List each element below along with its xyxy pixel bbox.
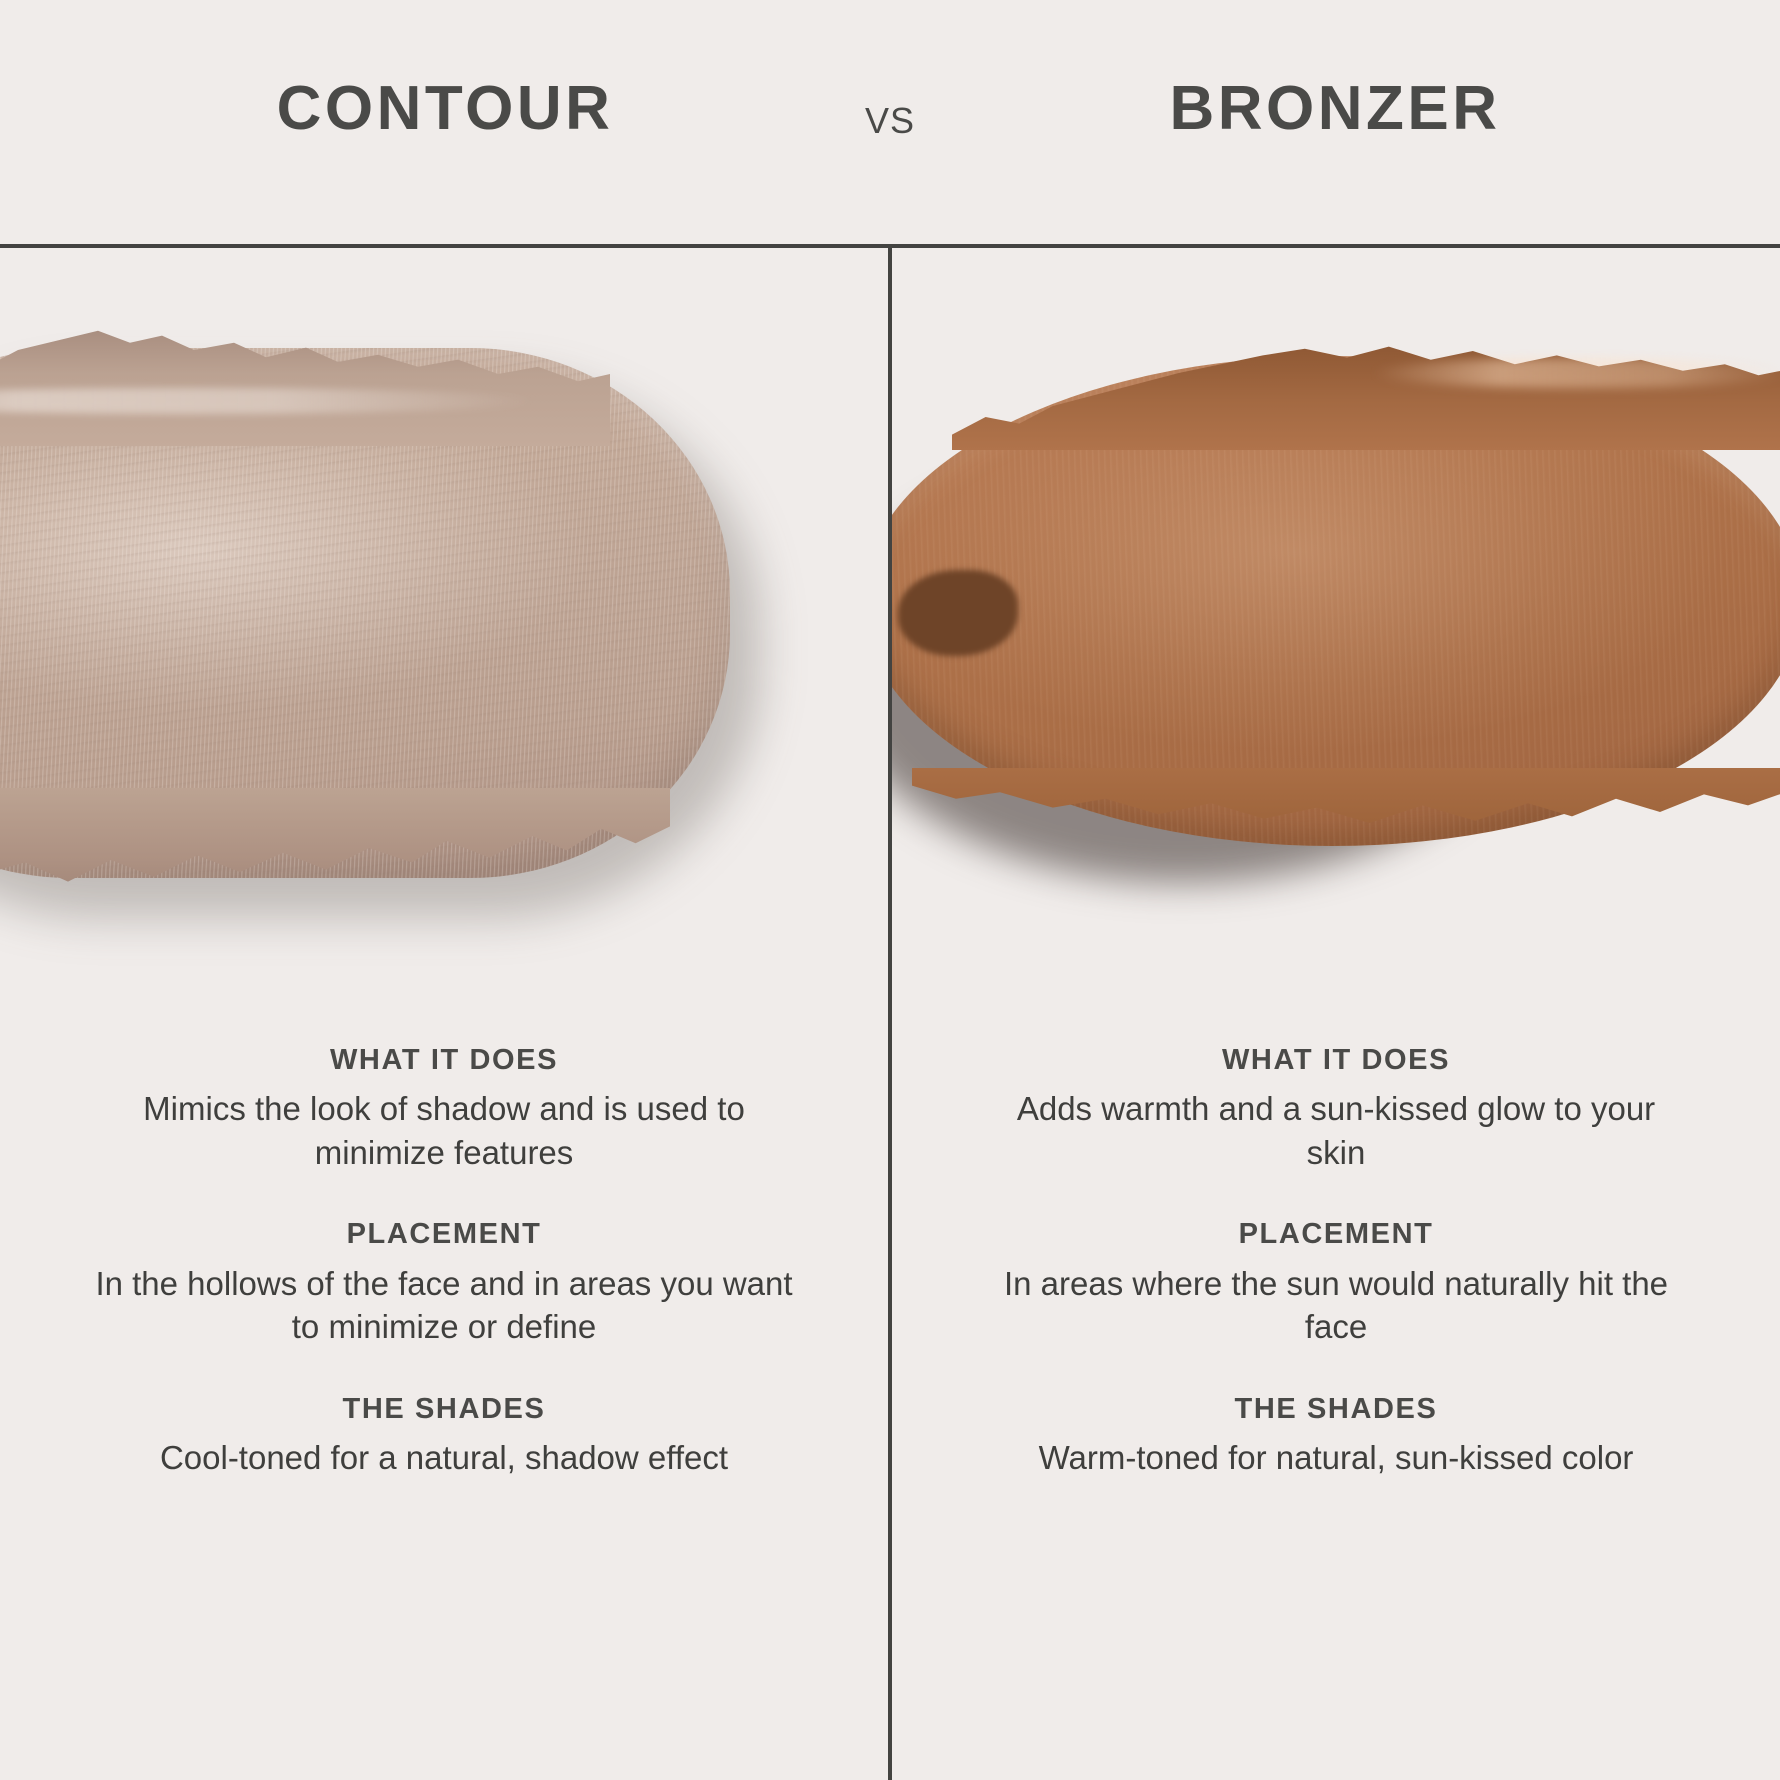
- info-body: In areas where the sun would naturally h…: [892, 1262, 1780, 1349]
- info-heading: PLACEMENT: [0, 1218, 888, 1251]
- info-block-contour: WHAT IT DOES Mimics the look of shadow a…: [0, 1044, 888, 1480]
- info-section-the-shades: THE SHADES Cool-toned for a natural, sha…: [0, 1393, 888, 1480]
- column-bronzer: WHAT IT DOES Adds warmth and a sun-kisse…: [892, 248, 1780, 1780]
- bronzer-swatch-notch: [898, 570, 1018, 656]
- info-heading: THE SHADES: [0, 1393, 888, 1426]
- info-body: Cool-toned for a natural, shadow effect: [0, 1436, 888, 1480]
- swatch-area-bronzer: [892, 248, 1780, 988]
- page-title-bronzer: BRONZER: [890, 78, 1780, 140]
- info-body: Warm-toned for natural, sun-kissed color: [892, 1436, 1780, 1480]
- contour-swatch-top-ridge: [0, 326, 610, 446]
- info-block-bronzer: WHAT IT DOES Adds warmth and a sun-kisse…: [892, 1044, 1780, 1480]
- info-heading: PLACEMENT: [892, 1218, 1780, 1251]
- info-heading: WHAT IT DOES: [0, 1044, 888, 1077]
- info-section-what-it-does: WHAT IT DOES Adds warmth and a sun-kisse…: [892, 1044, 1780, 1174]
- info-section-placement: PLACEMENT In the hollows of the face and…: [0, 1218, 888, 1348]
- column-contour: WHAT IT DOES Mimics the look of shadow a…: [0, 248, 888, 1780]
- info-heading: THE SHADES: [892, 1393, 1780, 1426]
- info-section-what-it-does: WHAT IT DOES Mimics the look of shadow a…: [0, 1044, 888, 1174]
- header: CONTOUR VS BRONZER: [0, 0, 1780, 245]
- info-body: Mimics the look of shadow and is used to…: [0, 1087, 888, 1174]
- info-section-the-shades: THE SHADES Warm-toned for natural, sun-k…: [892, 1393, 1780, 1480]
- contour-vs-bronzer-infographic: CONTOUR VS BRONZER WHAT IT DOES Mimics t…: [0, 0, 1780, 1780]
- info-body: Adds warmth and a sun-kissed glow to you…: [892, 1087, 1780, 1174]
- info-body: In the hollows of the face and in areas …: [0, 1262, 888, 1349]
- swatch-area-contour: [0, 248, 888, 988]
- info-section-placement: PLACEMENT In areas where the sun would n…: [892, 1218, 1780, 1348]
- info-heading: WHAT IT DOES: [892, 1044, 1780, 1077]
- bronzer-swatch-highlight: [1372, 358, 1780, 388]
